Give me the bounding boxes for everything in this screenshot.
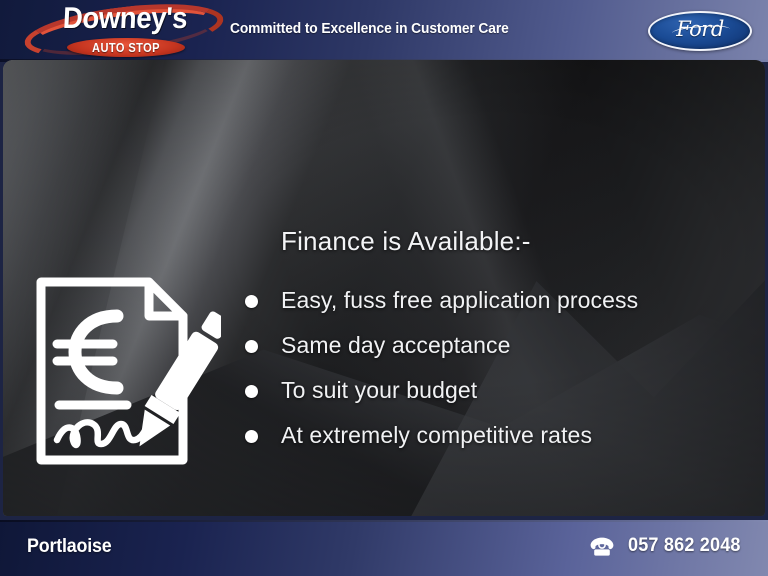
list-item-label: Same day acceptance: [281, 332, 511, 358]
euro-contract-signature-icon: [31, 268, 221, 474]
benefits-list: Easy, fuss free application process Same…: [241, 286, 638, 466]
ford-logo[interactable]: Ford: [648, 11, 752, 51]
main-panel: Finance is Available:- Easy, fuss free a…: [3, 60, 765, 516]
list-item-label: Easy, fuss free application process: [281, 287, 638, 313]
header-bar: Downey's AUTO STOP Committed to Excellen…: [0, 0, 768, 62]
dealer-logo[interactable]: Downey's AUTO STOP: [24, 2, 224, 60]
list-item-label: To suit your budget: [281, 377, 477, 403]
bullet-dot-icon: [245, 430, 258, 443]
bullet-dot-icon: [245, 385, 258, 398]
ford-wordmark: Ford: [650, 17, 750, 41]
location-label: Portlaoise: [27, 536, 111, 558]
bullet-dot-icon: [245, 295, 258, 308]
logo-sub-banner-label: AUTO STOP: [76, 40, 176, 55]
finance-advertisement-banner: Downey's AUTO STOP Committed to Excellen…: [0, 0, 768, 576]
list-item-label: At extremely competitive rates: [281, 422, 592, 448]
list-item: Same day acceptance: [241, 331, 638, 359]
header-tagline: Committed to Excellence in Customer Care: [230, 21, 509, 37]
dealer-brand-name: Downey's: [55, 3, 195, 35]
list-item: To suit your budget: [241, 376, 638, 404]
contact-phone[interactable]: 057 862 2048: [589, 535, 744, 557]
list-item: At extremely competitive rates: [241, 421, 638, 449]
list-item: Easy, fuss free application process: [241, 286, 638, 314]
page-title: Finance is Available:-: [281, 226, 531, 257]
phone-number: 057 862 2048: [628, 535, 741, 557]
logo-sub-banner: AUTO STOP: [67, 38, 185, 57]
bullet-dot-icon: [245, 340, 258, 353]
footer-bar: Portlaoise 057 862 2048: [0, 520, 768, 576]
telephone-icon: [589, 536, 615, 557]
